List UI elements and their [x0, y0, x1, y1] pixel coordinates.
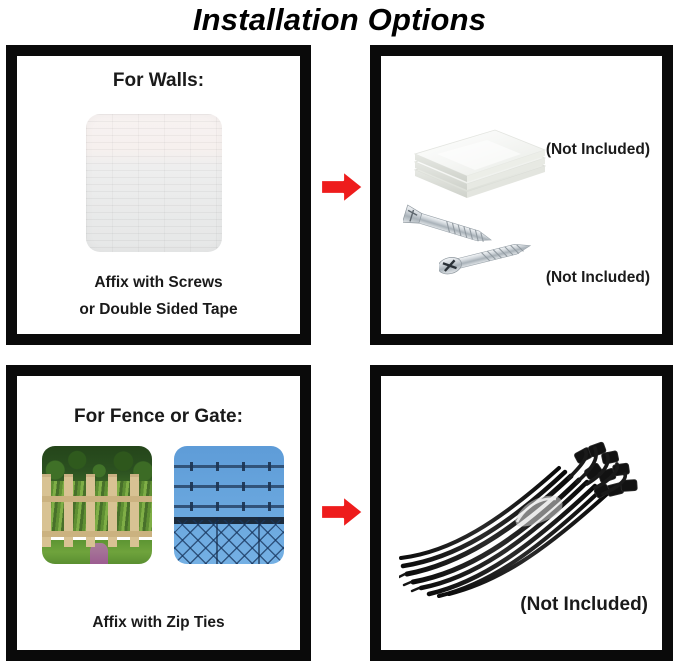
tape-not-included-label: (Not Included): [546, 141, 650, 159]
panel-for-walls-heading: For Walls:: [17, 70, 300, 92]
panel-for-fence-or-gate: For Fence or Gate: Affix with Zip Ties: [6, 365, 311, 661]
barbed-wire-strand-1: [174, 465, 284, 468]
fence-post-right: [258, 517, 260, 564]
chain-link-barbed-wire-fence-photo-icon: [174, 446, 284, 564]
barbed-wire-strand-3: [174, 505, 284, 508]
white-brick-wall-swatch-icon: [86, 114, 222, 252]
wooden-picket-fence-photo-icon: [42, 446, 152, 564]
panel-hardware: (Not Included): [370, 45, 673, 345]
double-sided-tape-stack-icon: [409, 118, 549, 200]
fence-rail-top: [42, 496, 152, 502]
screws-not-included-label: (Not Included): [546, 269, 650, 287]
fence-rail-bottom: [42, 531, 152, 537]
zip-ties-not-included-label: (Not Included): [520, 594, 648, 616]
panel-hardware-inner: (Not Included): [381, 56, 662, 334]
black-zip-ties-bundle-icon: [399, 424, 649, 604]
panel-for-walls-caption-line1: Affix with Screws: [17, 274, 300, 292]
arrow-right-icon-bottom: [319, 492, 365, 532]
panel-zip-ties-inner: (Not Included): [381, 376, 662, 650]
panel-for-fence-caption: Affix with Zip Ties: [17, 614, 300, 632]
panel-for-walls-caption-line2: or Double Sided Tape: [17, 301, 300, 319]
panel-for-walls: For Walls: Affix with Screws or Double S…: [6, 45, 311, 345]
panel-zip-ties: (Not Included): [370, 365, 673, 661]
fence-post-left: [216, 517, 218, 564]
page-title: Installation Options: [0, 0, 679, 44]
panel-for-fence-or-gate-inner: For Fence or Gate: Affix with Zip Ties: [17, 376, 300, 650]
chain-link-mesh: [174, 520, 284, 564]
panel-for-fence-heading: For Fence or Gate:: [17, 406, 300, 428]
barbed-wire-strand-2: [174, 485, 284, 488]
arrow-right-icon-top: [319, 167, 365, 207]
panel-for-walls-inner: For Walls: Affix with Screws or Double S…: [17, 56, 300, 334]
wood-screw-icon-bottom: [439, 241, 551, 285]
